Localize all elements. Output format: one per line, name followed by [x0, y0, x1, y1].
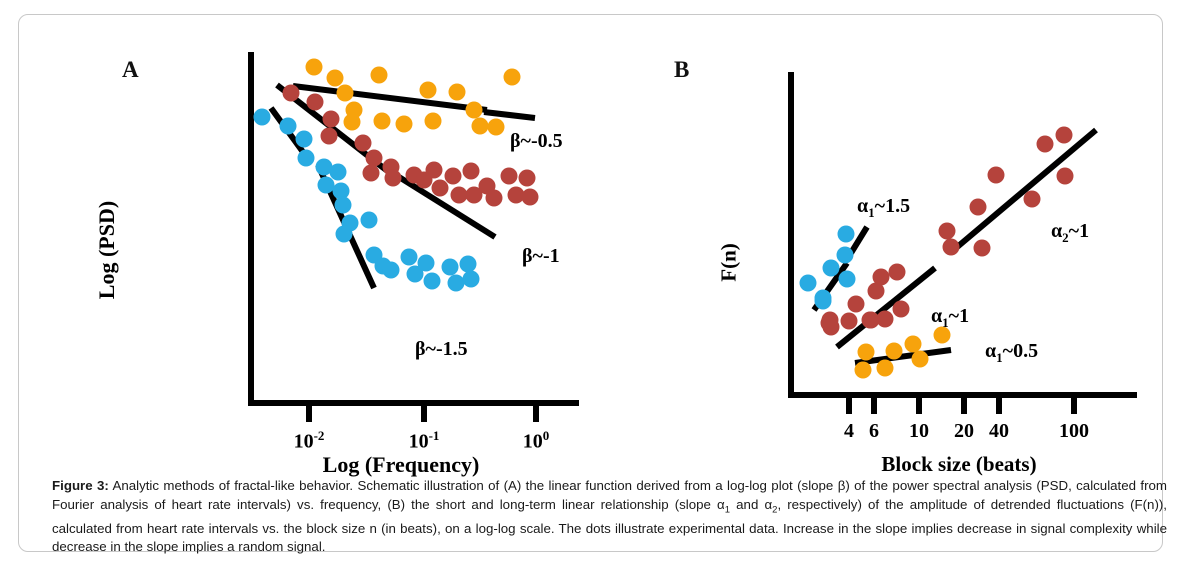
- panel-a-xtick-label-2: 100: [496, 428, 576, 454]
- panel-a-datapoint-1-18: [486, 190, 503, 207]
- panel-a-datapoint-1-14: [451, 187, 468, 204]
- panel-a-axis: [251, 55, 576, 403]
- panel-a-datapoint-0-12: [472, 118, 489, 135]
- panel-b-datapoint-2-4: [988, 167, 1005, 184]
- panel-a-datapoint-0-10: [449, 84, 466, 101]
- panel-b-datapoint-0-5: [839, 271, 856, 288]
- panel-a-datapoint-2-3: [298, 150, 315, 167]
- panel-a-datapoint-0-6: [374, 113, 391, 130]
- panel-a-datapoint-1-19: [501, 168, 518, 185]
- panel-b-x-axis-label: Block size (beats): [809, 452, 1109, 477]
- panel-b-datapoint-2-5: [1024, 191, 1041, 208]
- panel-a-datapoint-0-7: [396, 116, 413, 133]
- panel-b-datapoint-1-10: [889, 264, 906, 281]
- panel-b-datapoint-2-7: [1056, 127, 1073, 144]
- panel-a-datapoint-2-17: [418, 255, 435, 272]
- panel-a-fit-line-0b: [484, 112, 535, 118]
- panel-a-datapoint-2-14: [383, 262, 400, 279]
- panel-a-x-axis-label: Log (Frequency): [251, 452, 551, 478]
- panel-b-datapoint-0-4: [838, 226, 855, 243]
- panel-a-xtick-label-1: 10-1: [384, 428, 464, 454]
- panel-a-datapoint-2-18: [424, 273, 441, 290]
- panel-b-datapoint-0-6: [815, 293, 832, 310]
- panel-a-datapoint-2-2: [296, 131, 313, 148]
- panel-a-datapoint-0-11: [466, 102, 483, 119]
- panel-b-datapoint-3-1: [858, 344, 875, 361]
- panel-a-datapoint-2-11: [361, 212, 378, 229]
- panel-a-datapoint-2-21: [460, 256, 477, 273]
- caption-label: Figure 3:: [52, 478, 109, 493]
- panel-a-datapoint-2-1: [280, 118, 297, 135]
- panel-b-datapoint-0-2: [823, 260, 840, 277]
- panel-b-y-axis-label: F(n): [717, 208, 742, 318]
- panel-a-datapoint-2-15: [401, 249, 418, 266]
- panel-a-datapoint-0-2: [337, 85, 354, 102]
- panel-b-datapoint-3-4: [912, 351, 929, 368]
- panel-a-y-axis-label: Log (PSD): [94, 140, 120, 360]
- panel-b-datapoint-3-3: [905, 336, 922, 353]
- panel-a-datapoint-2-0: [254, 109, 271, 126]
- panel-a-datapoint-1-8: [385, 170, 402, 187]
- panel-a-datapoint-1-1: [307, 94, 324, 111]
- figure-card: A B Log (PSD) Log (Frequency) F(n) Block…: [18, 14, 1163, 552]
- figure-caption: Figure 3: Analytic methods of fractal-li…: [52, 477, 1167, 557]
- panel-b-datapoint-1-9: [893, 301, 910, 318]
- panel-b-datapoint-2-0: [939, 223, 956, 240]
- panel-b-datapoint-1-2: [822, 312, 839, 329]
- panel-b-datapoint-1-3: [841, 313, 858, 330]
- panel-b-datapoint-2-8: [1057, 168, 1074, 185]
- panel-a-datapoint-1-4: [355, 135, 372, 152]
- panel-a-datapoint-2-20: [448, 275, 465, 292]
- panel-a-datapoint-0-1: [327, 70, 344, 87]
- panel-a-slope-label-2: β~-1.5: [415, 338, 468, 361]
- panel-b-xtick-label-4: 40: [959, 420, 1039, 443]
- panel-a-datapoint-1-22: [522, 189, 539, 206]
- panel-a-slope-label-1: β~-1: [522, 245, 560, 268]
- panel-a-datapoint-1-6: [363, 165, 380, 182]
- panel-b-datapoint-1-11: [862, 312, 879, 329]
- panel-a-datapoint-2-5: [330, 164, 347, 181]
- panel-a-datapoint-2-19: [442, 259, 459, 276]
- panel-a-datapoint-1-13: [445, 168, 462, 185]
- panel-b-slope-label-3: α1~0.5: [985, 340, 1038, 366]
- panel-a-datapoint-0-5: [371, 67, 388, 84]
- panel-b-slope-label-2: α2~1: [1051, 220, 1089, 246]
- panel-a-datapoint-0-13: [504, 69, 521, 86]
- panel-b-datapoint-2-6: [1037, 136, 1054, 153]
- panel-a-datapoint-2-10: [336, 226, 353, 243]
- panel-b-slope-label-0: α1~1.5: [857, 195, 910, 221]
- panel-b-datapoint-3-0: [855, 362, 872, 379]
- figure-plot-area: [19, 15, 1164, 475]
- panel-b-datapoint-0-0: [800, 275, 817, 292]
- panel-a-datapoint-2-22: [463, 271, 480, 288]
- panel-b-datapoint-3-2: [877, 360, 894, 377]
- panel-a-slope-label-0: β~-0.5: [510, 130, 563, 153]
- panel-b-datapoint-1-6: [873, 269, 890, 286]
- panel-b-datapoint-2-3: [974, 240, 991, 257]
- panel-b-datapoint-1-4: [848, 296, 865, 313]
- panel-b-xtick-label-5: 100: [1034, 420, 1114, 443]
- panel-b-datapoint-2-1: [943, 239, 960, 256]
- panel-a-datapoint-1-2: [323, 111, 340, 128]
- panel-a-xtick-label-0: 10-2: [269, 428, 349, 454]
- panel-a-datapoint-0-4: [344, 114, 361, 131]
- panel-a-datapoint-1-0: [283, 85, 300, 102]
- panel-a-datapoint-0-8: [420, 82, 437, 99]
- caption-text-2: and α: [730, 497, 772, 512]
- panel-b-datapoint-2-2: [970, 199, 987, 216]
- panel-b-datapoint-3-6: [886, 343, 903, 360]
- panel-a-datapoint-1-5: [366, 150, 383, 167]
- panel-a-datapoint-0-0: [306, 59, 323, 76]
- panel-a-datapoint-1-3: [321, 128, 338, 145]
- figure-page: A B Log (PSD) Log (Frequency) F(n) Block…: [0, 0, 1181, 577]
- panel-a-datapoint-1-12: [432, 180, 449, 197]
- panel-b-datapoint-0-3: [837, 247, 854, 264]
- panel-a-datapoint-2-8: [335, 197, 352, 214]
- panel-a-datapoint-1-11: [426, 162, 443, 179]
- panel-b-slope-label-1: α1~1: [931, 305, 969, 331]
- panel-a-datapoint-1-21: [519, 170, 536, 187]
- panel-a-datapoint-1-15: [463, 163, 480, 180]
- panel-a-datapoint-2-7: [318, 177, 335, 194]
- panel-a-datapoint-0-14: [488, 119, 505, 136]
- panel-a-datapoint-0-9: [425, 113, 442, 130]
